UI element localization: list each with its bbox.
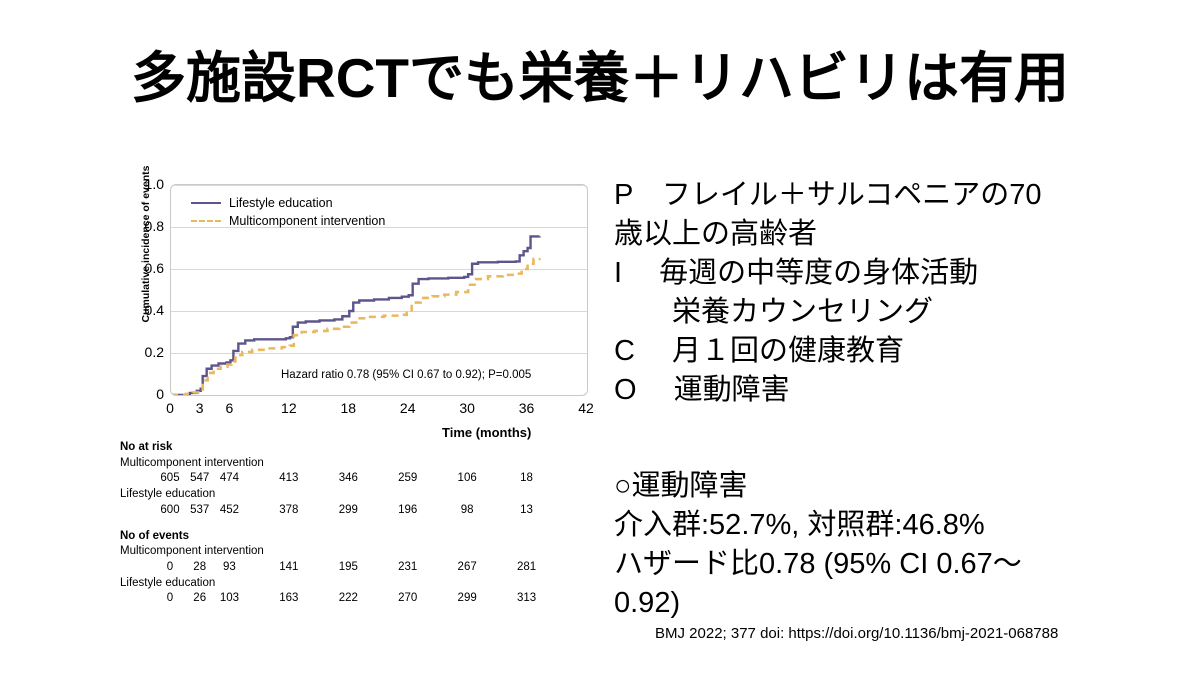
pico-line: 栄養カウンセリング <box>614 293 1174 332</box>
chart-legend: Lifestyle education Multicomponent inter… <box>191 194 385 230</box>
y-tick-label: 0 <box>126 386 164 402</box>
plot-area: Lifestyle education Multicomponent inter… <box>170 184 588 396</box>
table-cell: 0 <box>167 560 173 576</box>
legend-label-lifestyle-education: Lifestyle education <box>229 194 333 212</box>
table-cell: 346 <box>339 471 358 487</box>
table-cell: 141 <box>279 560 298 576</box>
table-cell: 413 <box>279 471 298 487</box>
pico-line: O 運動障害 <box>614 371 1174 410</box>
table-row: 02893141195231267281 <box>120 560 612 576</box>
table-cell: 196 <box>398 503 417 519</box>
table-cell: 267 <box>458 560 477 576</box>
y-tick-label: 0.8 <box>126 218 164 234</box>
table-cell: 93 <box>223 560 236 576</box>
table-cell: 231 <box>398 560 417 576</box>
table-cell: 452 <box>220 503 239 519</box>
x-tick-label: 6 <box>226 400 234 416</box>
table-cell: 106 <box>458 471 477 487</box>
table-cell: 98 <box>461 503 474 519</box>
table-cell: 378 <box>279 503 298 519</box>
table-row: 6005374523782991969813 <box>120 503 612 519</box>
outcome-text-block: ○運動障害介入群:52.7%, 対照群:46.8%ハザード比0.78 (95% … <box>614 467 1184 623</box>
table-header: No at risk <box>120 440 612 456</box>
table-cell: 222 <box>339 591 358 607</box>
y-tick-label: 0.2 <box>126 344 164 360</box>
legend-item-lifestyle-education: Lifestyle education <box>191 194 385 212</box>
x-tick-label: 36 <box>519 400 535 416</box>
table-cell: 18 <box>520 471 533 487</box>
x-tick-label: 0 <box>166 400 174 416</box>
table-cell: 28 <box>193 560 206 576</box>
outcome-line: 0.92) <box>614 584 1184 623</box>
risk-and-events-tables: No at riskMulticomponent intervention605… <box>120 438 612 607</box>
table-cell: 259 <box>398 471 417 487</box>
outcome-line: 介入群:52.7%, 対照群:46.8% <box>614 506 1184 545</box>
table-cell: 547 <box>190 471 209 487</box>
x-tick-label: 24 <box>400 400 416 416</box>
y-tick-label: 0.4 <box>126 302 164 318</box>
table-cell: 299 <box>458 591 477 607</box>
table-row: 60554747441334625910618 <box>120 471 612 487</box>
pico-text-block: P フレイル＋サルコペニアの70歳以上の高齢者I 毎週の中等度の身体活動 栄養カ… <box>614 176 1174 410</box>
table-cell: 537 <box>190 503 209 519</box>
table-cell: 605 <box>160 471 179 487</box>
table-group-label: Lifestyle education <box>120 576 612 592</box>
x-tick-label: 12 <box>281 400 297 416</box>
table-cell: 313 <box>517 591 536 607</box>
outcome-line: ○運動障害 <box>614 467 1184 506</box>
table-cell: 13 <box>520 503 533 519</box>
table-cell: 26 <box>193 591 206 607</box>
kaplan-meier-figure: Cumulative incidence of events 00.20.40.… <box>112 178 612 628</box>
table-cell: 195 <box>339 560 358 576</box>
table-group-label: Multicomponent intervention <box>120 456 612 472</box>
x-tick-label: 42 <box>578 400 594 416</box>
table-cell: 103 <box>220 591 239 607</box>
table-cell: 299 <box>339 503 358 519</box>
table-row: 026103163222270299313 <box>120 591 612 607</box>
legend-label-multicomponent-intervention: Multicomponent intervention <box>229 212 385 230</box>
table-cell: 281 <box>517 560 536 576</box>
pico-line: I 毎週の中等度の身体活動 <box>614 254 1174 293</box>
table-group-label: Multicomponent intervention <box>120 544 612 560</box>
pico-line: 歳以上の高齢者 <box>614 215 1174 254</box>
x-axis-tick-labels: 036121824303642 <box>170 400 588 420</box>
pico-line: P フレイル＋サルコペニアの70 <box>614 176 1174 215</box>
table-cell: 600 <box>160 503 179 519</box>
x-tick-label: 3 <box>196 400 204 416</box>
table-group-label: Lifestyle education <box>120 487 612 503</box>
table-spacer <box>120 519 612 527</box>
legend-swatch-dashed-icon <box>191 220 221 222</box>
x-tick-label: 30 <box>459 400 475 416</box>
table-cell: 270 <box>398 591 417 607</box>
y-tick-label: 1.0 <box>126 176 164 192</box>
table-cell: 474 <box>220 471 239 487</box>
pico-line: C 月１回の健康教育 <box>614 332 1174 371</box>
page-title: 多施設RCTでも栄養＋リハビリは有用 <box>0 48 1200 109</box>
citation-text: BMJ 2022; 377 doi: https://doi.org/10.11… <box>655 625 1058 642</box>
legend-swatch-solid-icon <box>191 202 221 204</box>
hazard-ratio-annotation: Hazard ratio 0.78 (95% CI 0.67 to 0.92);… <box>281 369 531 381</box>
legend-item-multicomponent-intervention: Multicomponent intervention <box>191 212 385 230</box>
table-cell: 163 <box>279 591 298 607</box>
outcome-line: ハザード比0.78 (95% CI 0.67〜 <box>614 545 1184 584</box>
y-tick-label: 0.6 <box>126 260 164 276</box>
x-tick-label: 18 <box>340 400 356 416</box>
table-header: No of events <box>120 529 612 545</box>
table-cell: 0 <box>167 591 173 607</box>
